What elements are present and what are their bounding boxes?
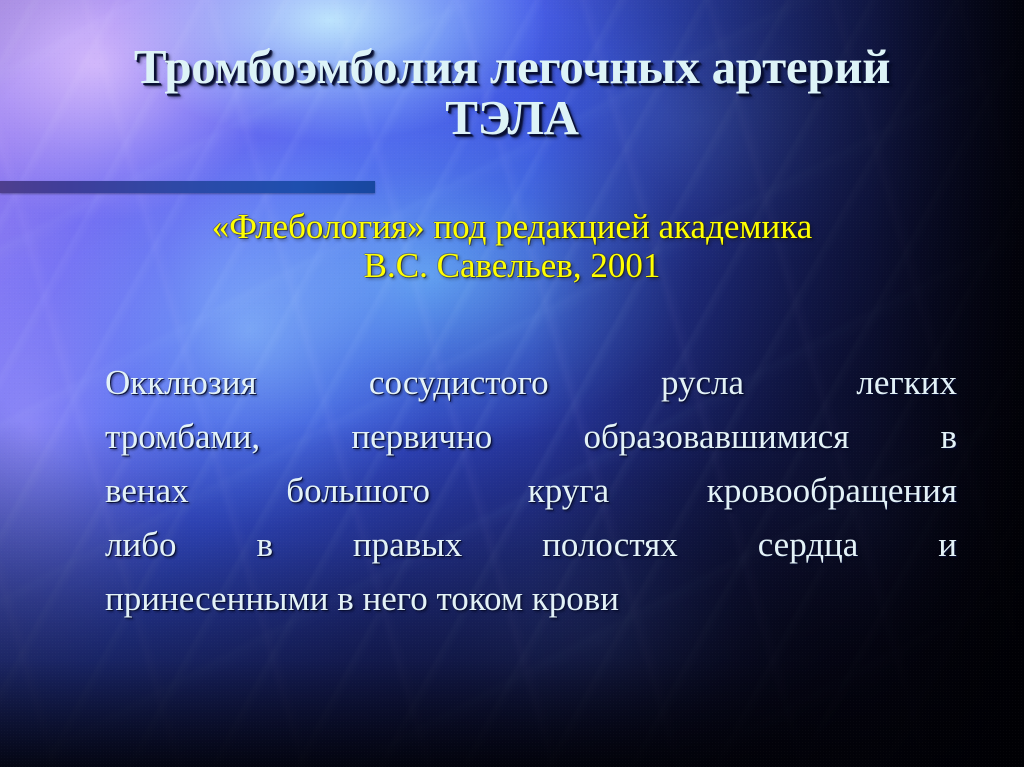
body-line-1: Окклюзия сосудистого русла легких — [105, 356, 957, 410]
body-paragraph: Окклюзия сосудистого русла легких тромба… — [105, 356, 957, 626]
body-line-5: принесенными в него током крови — [105, 572, 957, 626]
subtitle-line-1: «Флебология» под редакцией академика — [0, 207, 1024, 246]
title-line-1: Тромбоэмболия легочных артерий — [0, 42, 1024, 93]
subtitle-line-2: В.С. Савельев, 2001 — [0, 246, 1024, 285]
slide-content: Тромбоэмболия легочных артерий ТЭЛА «Фле… — [0, 0, 1024, 767]
slide-title: Тромбоэмболия легочных артерий ТЭЛА — [0, 42, 1024, 144]
title-divider-bar — [0, 181, 375, 193]
presentation-slide: Тромбоэмболия легочных артерий ТЭЛА «Фле… — [0, 0, 1024, 767]
body-line-3: венах большого круга кровообращения — [105, 464, 957, 518]
slide-body: Окклюзия сосудистого русла легких тромба… — [105, 356, 957, 626]
body-line-2: тромбами, первично образовавшимися в — [105, 410, 957, 464]
slide-subtitle: «Флебология» под редакцией академика В.С… — [0, 207, 1024, 285]
title-line-2: ТЭЛА — [0, 93, 1024, 144]
body-line-4: либо в правых полостях сердца и — [105, 518, 957, 572]
